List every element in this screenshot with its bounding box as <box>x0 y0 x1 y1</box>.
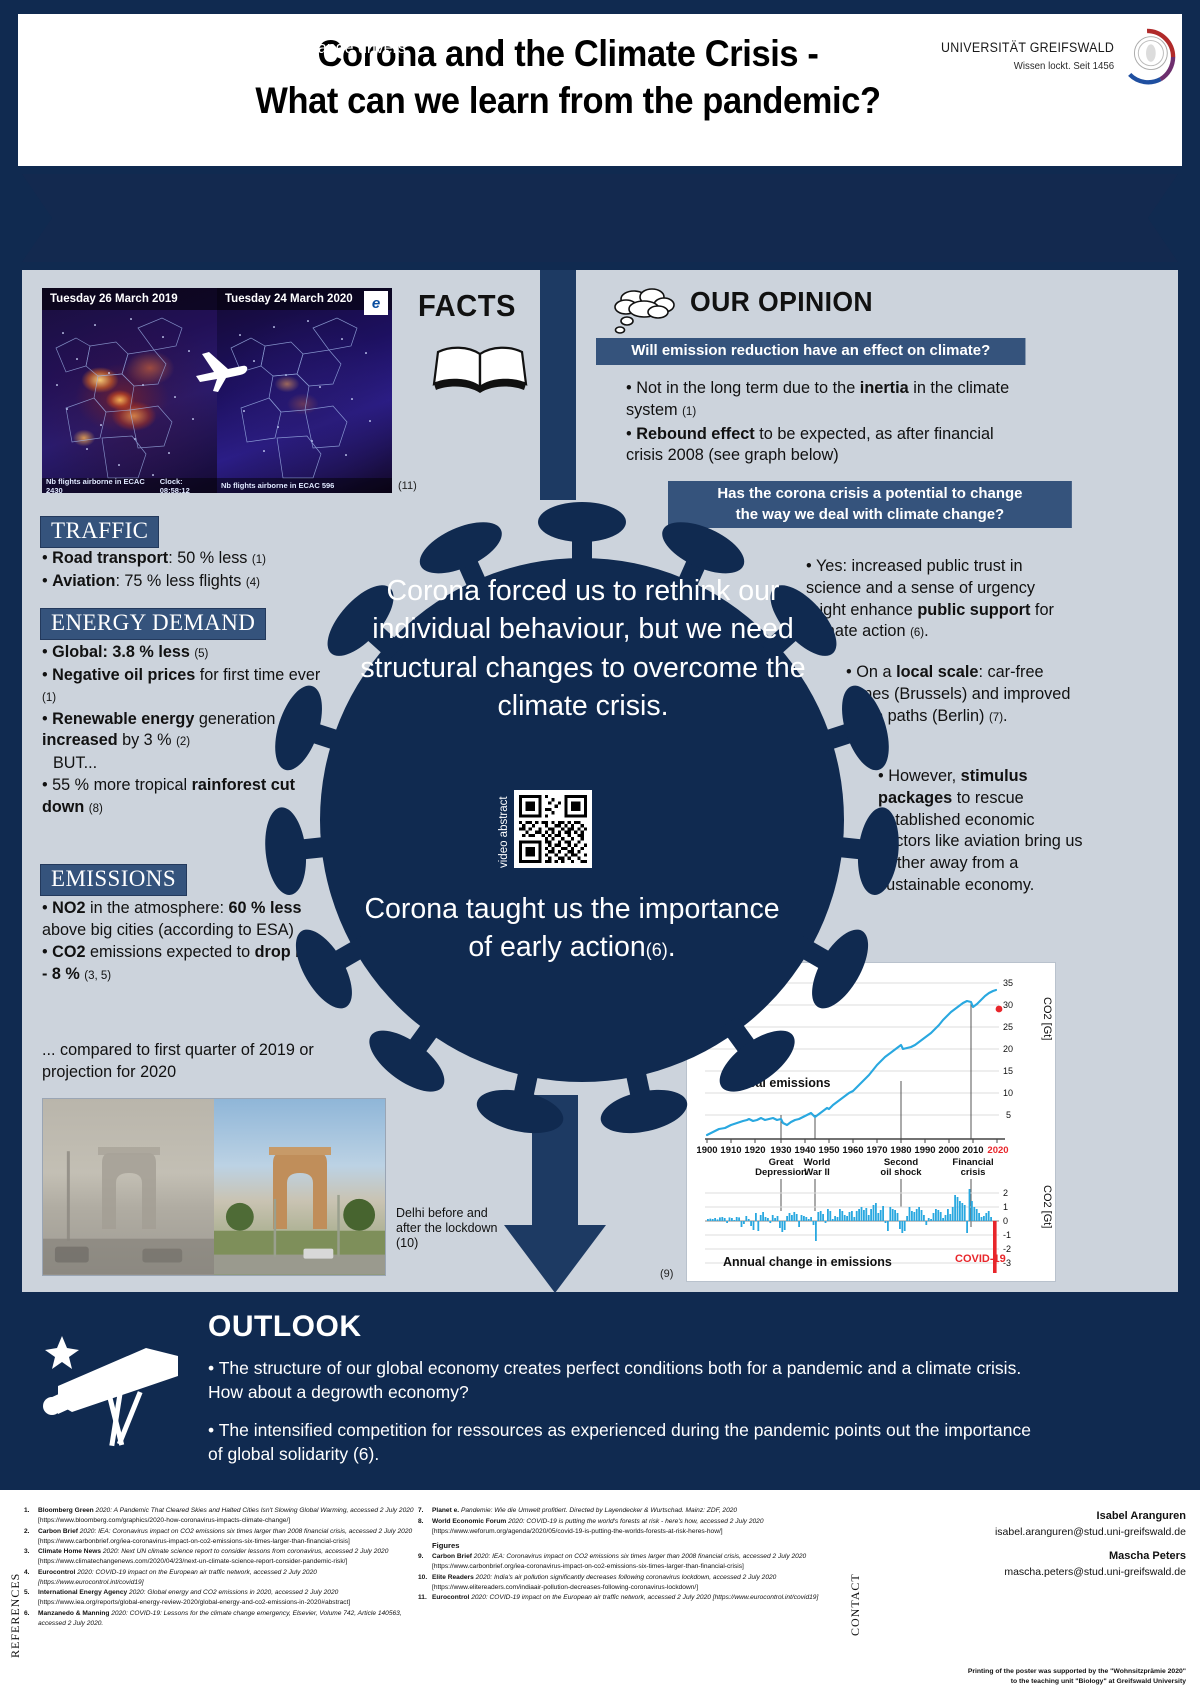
reference-row: 7.Planet e. Pandemie: Wie die Umwelt pro… <box>418 1506 838 1516</box>
svg-text:2000: 2000 <box>938 1145 959 1155</box>
figure-title: 2020: India's air pollution significantl… <box>474 1574 777 1581</box>
telescope-icon <box>28 1320 208 1470</box>
video-abstract-qr[interactable]: video abstract <box>498 790 592 868</box>
reference-row: 3.Climate Home News 2020: Next UN climat… <box>24 1547 424 1567</box>
open-book-icon <box>430 340 530 398</box>
svg-text:35: 35 <box>1003 978 1013 988</box>
print-note: Printing of the poster was supported by … <box>826 1667 1186 1687</box>
reference-source: Bloomberg Green <box>38 1507 94 1514</box>
qr-code-image[interactable] <box>514 790 592 868</box>
reference-source: Carbon Brief <box>38 1528 78 1535</box>
university-seal-icon <box>1118 28 1176 86</box>
satellite-2019-flights: Nb flights airborne in ECAC 2430 <box>46 477 160 494</box>
reference-source: Planet e. <box>432 1507 459 1514</box>
opinion-answer-item: Not in the long term due to the inertia … <box>626 378 1026 422</box>
reference-url: [https://www.carbonbrief.org/iea-coronav… <box>38 1537 424 1547</box>
satellite-2019-label: Tuesday 26 March 2019 <box>42 288 217 310</box>
svg-text:15: 15 <box>1003 1066 1013 1076</box>
outlook-list: The structure of our global economy crea… <box>208 1356 1038 1481</box>
reference-number: 6. <box>24 1609 38 1629</box>
svg-text:10: 10 <box>1003 1088 1013 1098</box>
reference-text: Manzanedo & Manning 2020: COVID-19: Less… <box>38 1609 424 1629</box>
virus-statement-2-period: . <box>668 931 676 963</box>
section-heading-traffic: TRAFFIC <box>40 516 159 548</box>
reference-title: 2020: COVID-19 impact on the European ai… <box>38 1569 317 1586</box>
references-column-1: 1.Bloomberg Green 2020: A Pandemic That … <box>24 1506 424 1629</box>
outlook-heading: OUTLOOK <box>208 1310 362 1344</box>
reference-url: [https://www.climatechangenews.com/2020/… <box>38 1557 424 1567</box>
delhi-photo-caption: Delhi before and after the lockdown (10) <box>396 1206 506 1251</box>
svg-text:2010: 2010 <box>962 1145 983 1155</box>
chart-ylabel-bottom: CO2 [Gt] <box>1041 1185 1053 1228</box>
svg-text:2: 2 <box>1003 1188 1008 1198</box>
reference-source: Climate Home News <box>38 1548 101 1555</box>
eurocontrol-logo-icon: e <box>364 291 388 315</box>
print-note-line-1: Printing of the poster was supported by … <box>826 1667 1186 1677</box>
figure-text: Carbon Brief 2020: IEA: Coronavirus impa… <box>432 1552 838 1572</box>
reference-row: 1.Bloomberg Green 2020: A Pandemic That … <box>24 1506 424 1526</box>
reference-row: 4.Eurocontrol 2020: COVID-19 impact on t… <box>24 1568 424 1588</box>
reference-title: 2020: IEA: Coronavirus impact on CO2 emi… <box>78 1528 412 1535</box>
outlook-item: The structure of our global economy crea… <box>208 1356 1038 1404</box>
chart-ylabel-top: CO2 [Gt] <box>1041 997 1053 1040</box>
reference-source: Eurocontrol <box>38 1569 75 1576</box>
svg-text:20: 20 <box>1003 1044 1013 1054</box>
reference-number: 2. <box>24 1527 38 1547</box>
reference-url: [https://www.iea.org/reports/global-ener… <box>38 1598 424 1608</box>
reference-url: [https://www.bloomberg.com/graphics/2020… <box>38 1516 424 1526</box>
svg-text:crisis: crisis <box>961 1167 986 1178</box>
reference-title: 2020: COVID-19 is putting the world's fo… <box>506 1518 763 1525</box>
reference-row: 5.International Energy Agency 2020: Glob… <box>24 1588 424 1608</box>
opinion-heading: OUR OPINION <box>690 286 873 318</box>
svg-text:2020: 2020 <box>987 1145 1008 1155</box>
reference-number: 8. <box>418 1517 432 1537</box>
reference-text: Carbon Brief 2020: IEA: Coronavirus impa… <box>38 1527 424 1547</box>
figure-title: 2020: IEA: Coronavirus impact on CO2 emi… <box>472 1553 806 1560</box>
references-label: REFERENCES <box>8 1508 23 1658</box>
figure-number: 11. <box>418 1593 432 1603</box>
reference-title: 2020: Next UN climate science report to … <box>101 1548 388 1555</box>
reference-number: 1. <box>24 1506 38 1526</box>
opinion-question-1: Will emission reduction have an effect o… <box>596 338 1025 365</box>
reference-number: 5. <box>24 1588 38 1608</box>
satellite-comparison-image: Tuesday 26 March 2019 Nb flights airborn… <box>42 288 392 493</box>
figure-number: 9. <box>418 1552 432 1572</box>
virus-statement-1: Corona forced us to rethink our individu… <box>330 572 836 726</box>
reference-row: 6.Manzanedo & Manning 2020: COVID-19: Le… <box>24 1609 424 1629</box>
references-column-2: 7.Planet e. Pandemie: Wie die Umwelt pro… <box>418 1506 838 1604</box>
contact-block: Isabel Aranguren isabel.aranguren@stud.u… <box>856 1508 1186 1581</box>
contact-name-1: Isabel Aranguren <box>856 1508 1186 1525</box>
airplane-icon <box>190 348 250 394</box>
reference-text: International Energy Agency 2020: Global… <box>38 1588 424 1608</box>
svg-text:0: 0 <box>1003 1216 1008 1226</box>
section-heading-emissions: EMISSIONS <box>40 864 187 896</box>
figure-url: [https://www.carbonbrief.org/iea-coronav… <box>432 1562 838 1572</box>
reference-number: 7. <box>418 1506 432 1516</box>
smog-overlay <box>43 1099 214 1275</box>
svg-text:30: 30 <box>1003 1000 1013 1010</box>
intro-line-2: This has had an effect on climate change… <box>62 35 1071 62</box>
contact-name-2: Mascha Peters <box>856 1548 1186 1565</box>
outlook-item: The intensified competition for ressourc… <box>208 1418 1038 1466</box>
reference-number: 3. <box>24 1547 38 1567</box>
reference-title: 2020: A Pandemic That Cleared Skies and … <box>94 1507 414 1514</box>
poster-root: Corona and the Climate Crisis - What can… <box>0 0 1200 1697</box>
print-note-line-2: to the teaching unit "Biology" at Greifs… <box>826 1677 1186 1687</box>
reference-text: Climate Home News 2020: Next UN climate … <box>38 1547 424 1567</box>
figure-number: 10. <box>418 1573 432 1593</box>
figure-text: Elite Readers 2020: India's air pollutio… <box>432 1573 838 1593</box>
reference-title: 2020: Global energy and CO2 emissions in… <box>127 1589 338 1596</box>
svg-text:1990: 1990 <box>914 1145 935 1155</box>
reference-number: 4. <box>24 1568 38 1588</box>
covid-19-label: COVID-19 <box>955 1253 1006 1265</box>
section-heading-energy: ENERGY DEMAND <box>40 608 266 640</box>
virus-statement-2-ref: (6) <box>646 940 668 960</box>
contact-email-1[interactable]: isabel.aranguren@stud.uni-greifswald.de <box>856 1525 1186 1541</box>
reference-url: [https://www.weforum.org/agenda/2020/05/… <box>432 1527 838 1537</box>
delhi-caption-ref: (10) <box>396 1236 418 1250</box>
figure-row: 11.Eurocontrol 2020: COVID-19 impact on … <box>418 1593 838 1603</box>
qr-label: video abstract <box>498 792 510 868</box>
virus-statement-2-text: Corona taught us the importance of early… <box>364 893 779 963</box>
figure-source: Carbon Brief <box>432 1553 472 1560</box>
figure-source: Elite Readers <box>432 1574 474 1581</box>
figures-heading: Figures <box>432 1540 838 1552</box>
reference-source: International Energy Agency <box>38 1589 127 1596</box>
intro-line-1: COVID-19 has led to a global economic sh… <box>62 8 1071 35</box>
reference-text: Eurocontrol 2020: COVID-19 impact on the… <box>38 1568 424 1588</box>
svg-text:25: 25 <box>1003 1022 1013 1032</box>
reference-text: Bloomberg Green 2020: A Pandemic That Cl… <box>38 1506 424 1526</box>
opinion-answers-1: Not in the long term due to the inertia … <box>626 378 1026 469</box>
reference-title: Pandemie: Wie die Umwelt profitiert. Dir… <box>459 1507 737 1514</box>
reference-source: Manzanedo & Manning <box>38 1610 109 1617</box>
chart-reference: (9) <box>660 1268 673 1280</box>
virus-statement-2: Corona taught us the importance of early… <box>352 890 792 967</box>
satellite-2019-footer: Nb flights airborne in ECAC 2430 Clock: … <box>42 478 217 493</box>
reference-text: World Economic Forum 2020: COVID-19 is p… <box>432 1517 838 1537</box>
delhi-caption-text: Delhi before and after the lockdown <box>396 1206 497 1235</box>
footer: REFERENCES CONTACT 1.Bloomberg Green 202… <box>0 1490 1200 1697</box>
contact-email-2[interactable]: mascha.peters@stud.uni-greifswald.de <box>856 1565 1186 1581</box>
reference-row: 8.World Economic Forum 2020: COVID-19 is… <box>418 1517 838 1537</box>
svg-text:-1: -1 <box>1003 1230 1011 1240</box>
intro-ribbon <box>22 174 1178 262</box>
figure-text: Eurocontrol 2020: COVID-19 impact on the… <box>432 1593 838 1603</box>
intro-text: COVID-19 has led to a global economic sh… <box>62 8 1071 88</box>
opinion-answer-item: Rebound effect to be expected, as after … <box>626 424 1026 468</box>
figure-title: 2020: COVID-19 impact on the European ai… <box>469 1594 818 1601</box>
figure-url: [https://www.elitereaders.com/indiaair-p… <box>432 1583 838 1593</box>
svg-text:1: 1 <box>1003 1202 1008 1212</box>
figure-row: 10.Elite Readers 2020: India's air pollu… <box>418 1573 838 1593</box>
svg-text:5: 5 <box>1006 1110 1011 1120</box>
satellite-clock: Clock: 08:58:12 <box>160 477 213 494</box>
thought-bubble-icon <box>608 285 680 340</box>
reference-text: Planet e. Pandemie: Wie die Umwelt profi… <box>432 1506 838 1516</box>
facts-heading: FACTS <box>418 288 516 324</box>
reference-row: 2.Carbon Brief 2020: IEA: Coronavirus im… <box>24 1527 424 1547</box>
column-divider <box>540 270 576 500</box>
figure-source: Eurocontrol <box>432 1594 469 1601</box>
reference-source: World Economic Forum <box>432 1518 506 1525</box>
intro-line-3: How remarkable is it? And may reflecting… <box>62 61 1071 88</box>
figure-row: 9.Carbon Brief 2020: IEA: Coronavirus im… <box>418 1552 838 1572</box>
chart-title-annual-change: Annual change in emissions <box>723 1255 892 1269</box>
delhi-photo-smog <box>43 1099 214 1275</box>
